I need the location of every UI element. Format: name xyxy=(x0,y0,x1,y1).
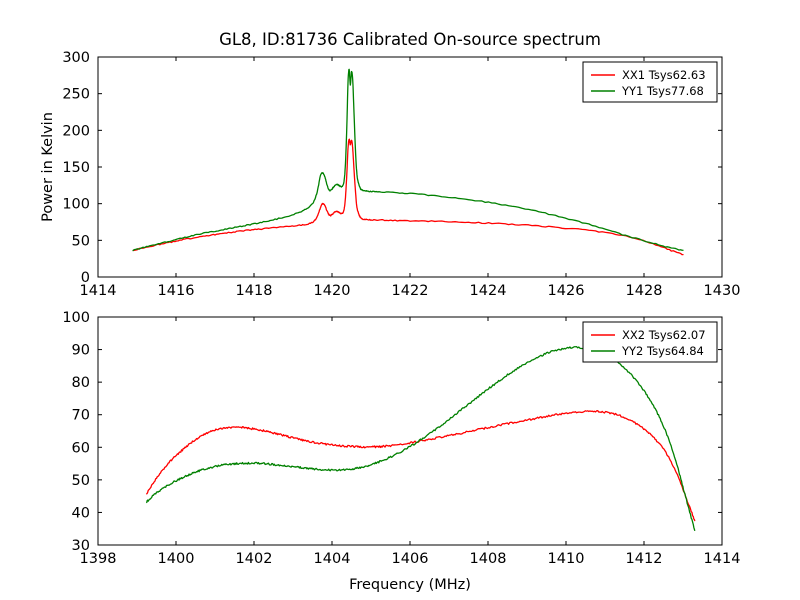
x-tick-label: 1414 xyxy=(704,551,741,567)
x-tick-label: 1404 xyxy=(314,551,351,567)
axes-bottom-panel: 1398140014021404140614081410141214143040… xyxy=(62,310,740,593)
legend-label: XX2 Tsys62.07 xyxy=(622,328,706,342)
x-tick-label: 1422 xyxy=(392,283,429,299)
plot-title: GL8, ID:81736 Calibrated On-source spect… xyxy=(219,30,601,49)
y-tick-label: 40 xyxy=(72,505,90,521)
legend-label: YY2 Tsys64.84 xyxy=(621,344,704,358)
x-tick-label: 1400 xyxy=(158,551,195,567)
y-tick-label: 150 xyxy=(62,160,90,176)
y-tick-label: 80 xyxy=(72,375,90,391)
axes-top-panel: 1414141614181420142214241426142814300501… xyxy=(40,30,740,299)
spectrum-plot-canvas: 1414141614181420142214241426142814300501… xyxy=(0,0,800,600)
matplotlib-figure: 1414141614181420142214241426142814300501… xyxy=(0,0,800,600)
y-tick-label: 0 xyxy=(81,270,90,286)
y-tick-label: 100 xyxy=(62,197,90,213)
series-line-yy2 xyxy=(147,347,695,531)
x-tick-label: 1420 xyxy=(314,283,351,299)
x-tick-label: 1408 xyxy=(470,551,507,567)
series-line-xx2 xyxy=(147,411,695,521)
x-tick-label: 1430 xyxy=(704,283,741,299)
x-tick-label: 1402 xyxy=(236,551,273,567)
x-tick-label: 1406 xyxy=(392,551,429,567)
x-axis-label: Frequency (MHz) xyxy=(349,577,471,593)
legend-top-panel: XX1 Tsys62.63YY1 Tsys77.68 xyxy=(583,62,717,102)
y-tick-label: 100 xyxy=(62,310,90,326)
y-tick-label: 200 xyxy=(62,123,90,139)
data-layer xyxy=(147,347,695,531)
x-tick-label: 1418 xyxy=(236,283,273,299)
x-tick-label: 1424 xyxy=(470,283,507,299)
x-tick-label: 1416 xyxy=(158,283,195,299)
y-tick-label: 30 xyxy=(72,538,90,554)
x-tick-label: 1412 xyxy=(626,551,663,567)
legend-bottom-panel: XX2 Tsys62.07YY2 Tsys64.84 xyxy=(583,322,717,362)
legend-label: YY1 Tsys77.68 xyxy=(621,84,704,98)
y-tick-label: 50 xyxy=(72,233,90,249)
y-tick-label: 60 xyxy=(72,440,90,456)
y-tick-label: 300 xyxy=(62,50,90,66)
y-tick-label: 250 xyxy=(62,87,90,103)
y-axis-label: Power in Kelvin xyxy=(40,112,56,222)
y-tick-label: 50 xyxy=(72,473,90,489)
x-tick-label: 1426 xyxy=(548,283,585,299)
x-tick-label: 1428 xyxy=(626,283,663,299)
series-line-xx1 xyxy=(133,139,683,254)
y-tick-label: 70 xyxy=(72,408,90,424)
legend-label: XX1 Tsys62.63 xyxy=(622,68,706,82)
y-tick-label: 90 xyxy=(72,343,90,359)
x-tick-label: 1410 xyxy=(548,551,585,567)
